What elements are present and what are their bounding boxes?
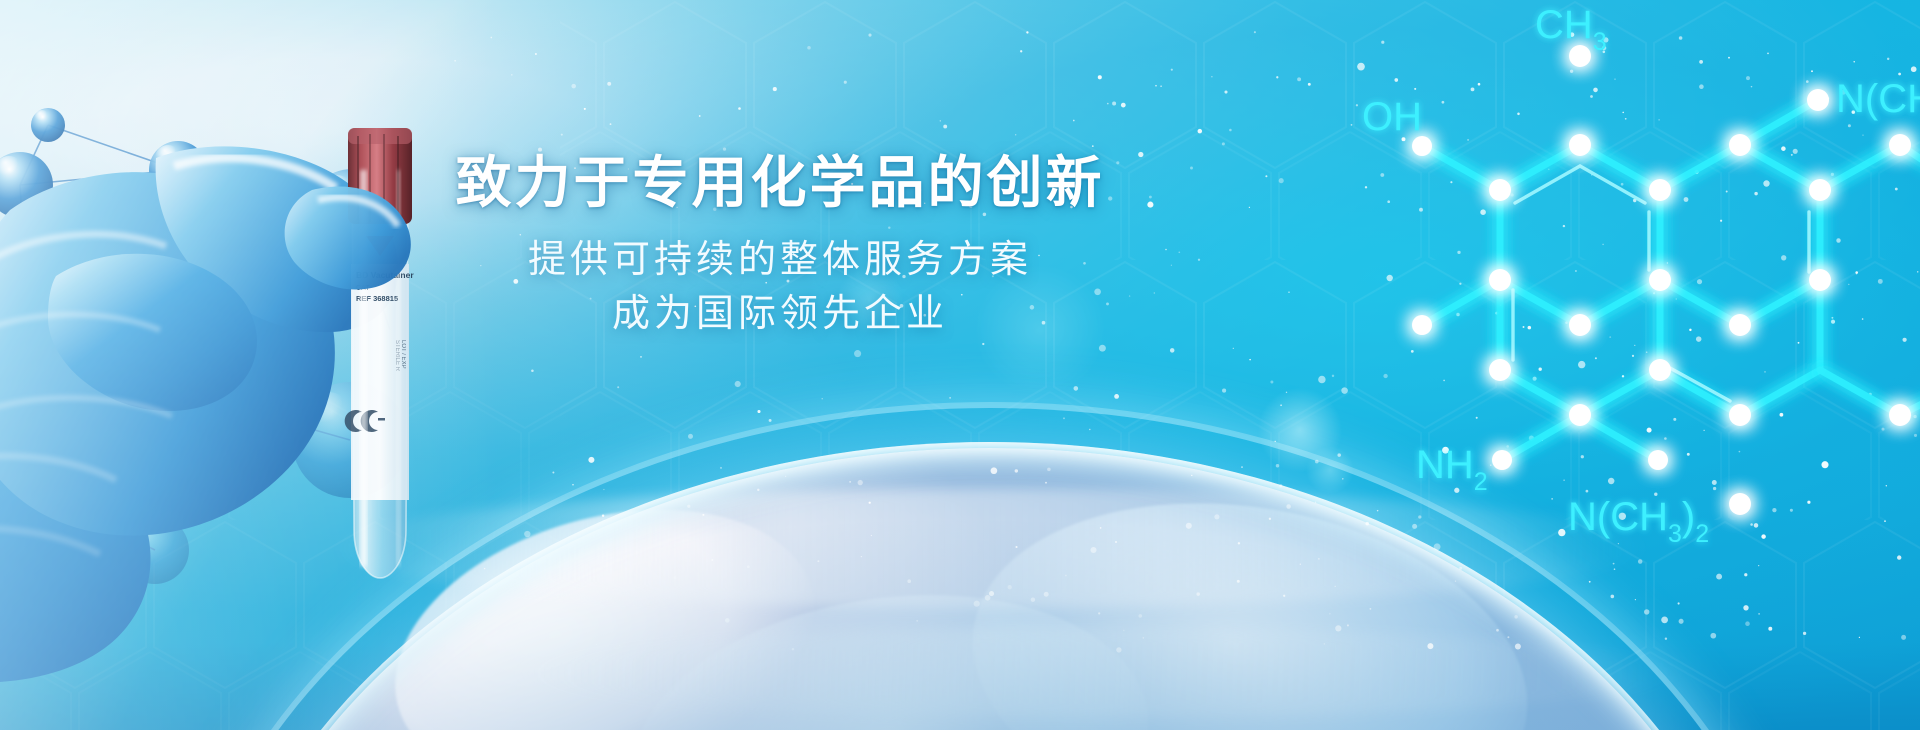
hero-banner: OH CH3 N(CH NH2 N(CH3)2 [0, 0, 1920, 730]
scene-vignette [0, 0, 1920, 730]
